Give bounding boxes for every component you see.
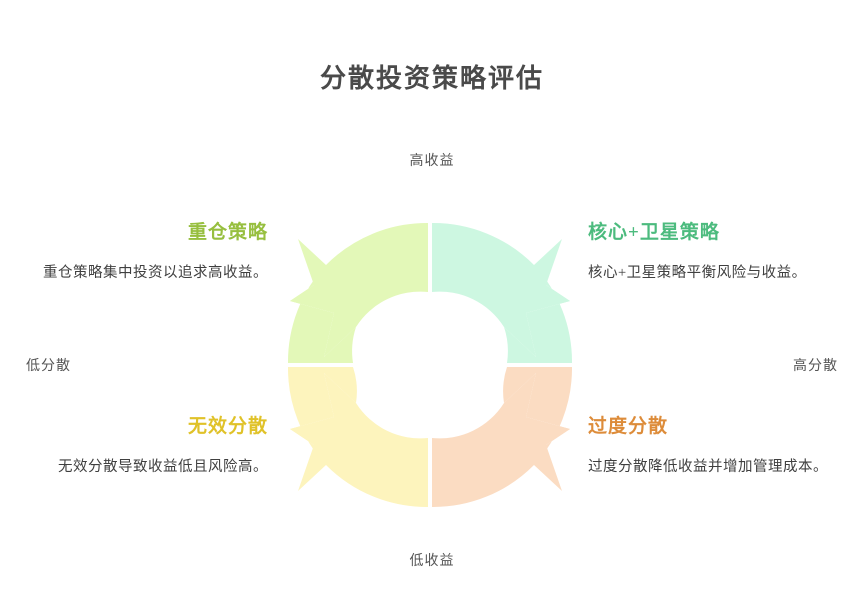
quadrant-description-bottom-right: 过度分散降低收益并增加管理成本。	[588, 455, 834, 480]
quadrant-heading-top-right: 核心+卫星策略	[588, 222, 834, 245]
quadrant-heading-top-left: 重仓策略	[22, 222, 268, 245]
quadrant-heading-bottom-right: 过度分散	[588, 416, 834, 439]
quadrant-ring-diagram	[280, 215, 580, 515]
diagram-canvas: 分散投资策略评估 高收益 低收益 低分散 高分散 重仓策略 重仓策略集中投资以追…	[0, 0, 864, 598]
axis-label-left: 低分散	[26, 355, 71, 375]
quadrant-text-bottom-right: 过度分散 过度分散降低收益并增加管理成本。	[588, 416, 834, 480]
axis-label-top: 高收益	[0, 150, 864, 170]
axis-label-bottom: 低收益	[0, 550, 864, 570]
quadrant-text-bottom-left: 无效分散 无效分散导致收益低且风险高。	[22, 416, 268, 480]
quadrant-text-top-right: 核心+卫星策略 核心+卫星策略平衡风险与收益。	[588, 222, 834, 286]
page-title: 分散投资策略评估	[0, 58, 864, 95]
axis-label-right: 高分散	[793, 355, 838, 375]
quadrant-heading-bottom-left: 无效分散	[22, 416, 268, 439]
quadrant-description-bottom-left: 无效分散导致收益低且风险高。	[22, 455, 268, 480]
ring-svg	[280, 215, 580, 515]
quadrant-text-top-left: 重仓策略 重仓策略集中投资以追求高收益。	[22, 222, 268, 286]
quadrant-description-top-left: 重仓策略集中投资以追求高收益。	[22, 261, 268, 286]
quadrant-description-top-right: 核心+卫星策略平衡风险与收益。	[588, 261, 834, 286]
